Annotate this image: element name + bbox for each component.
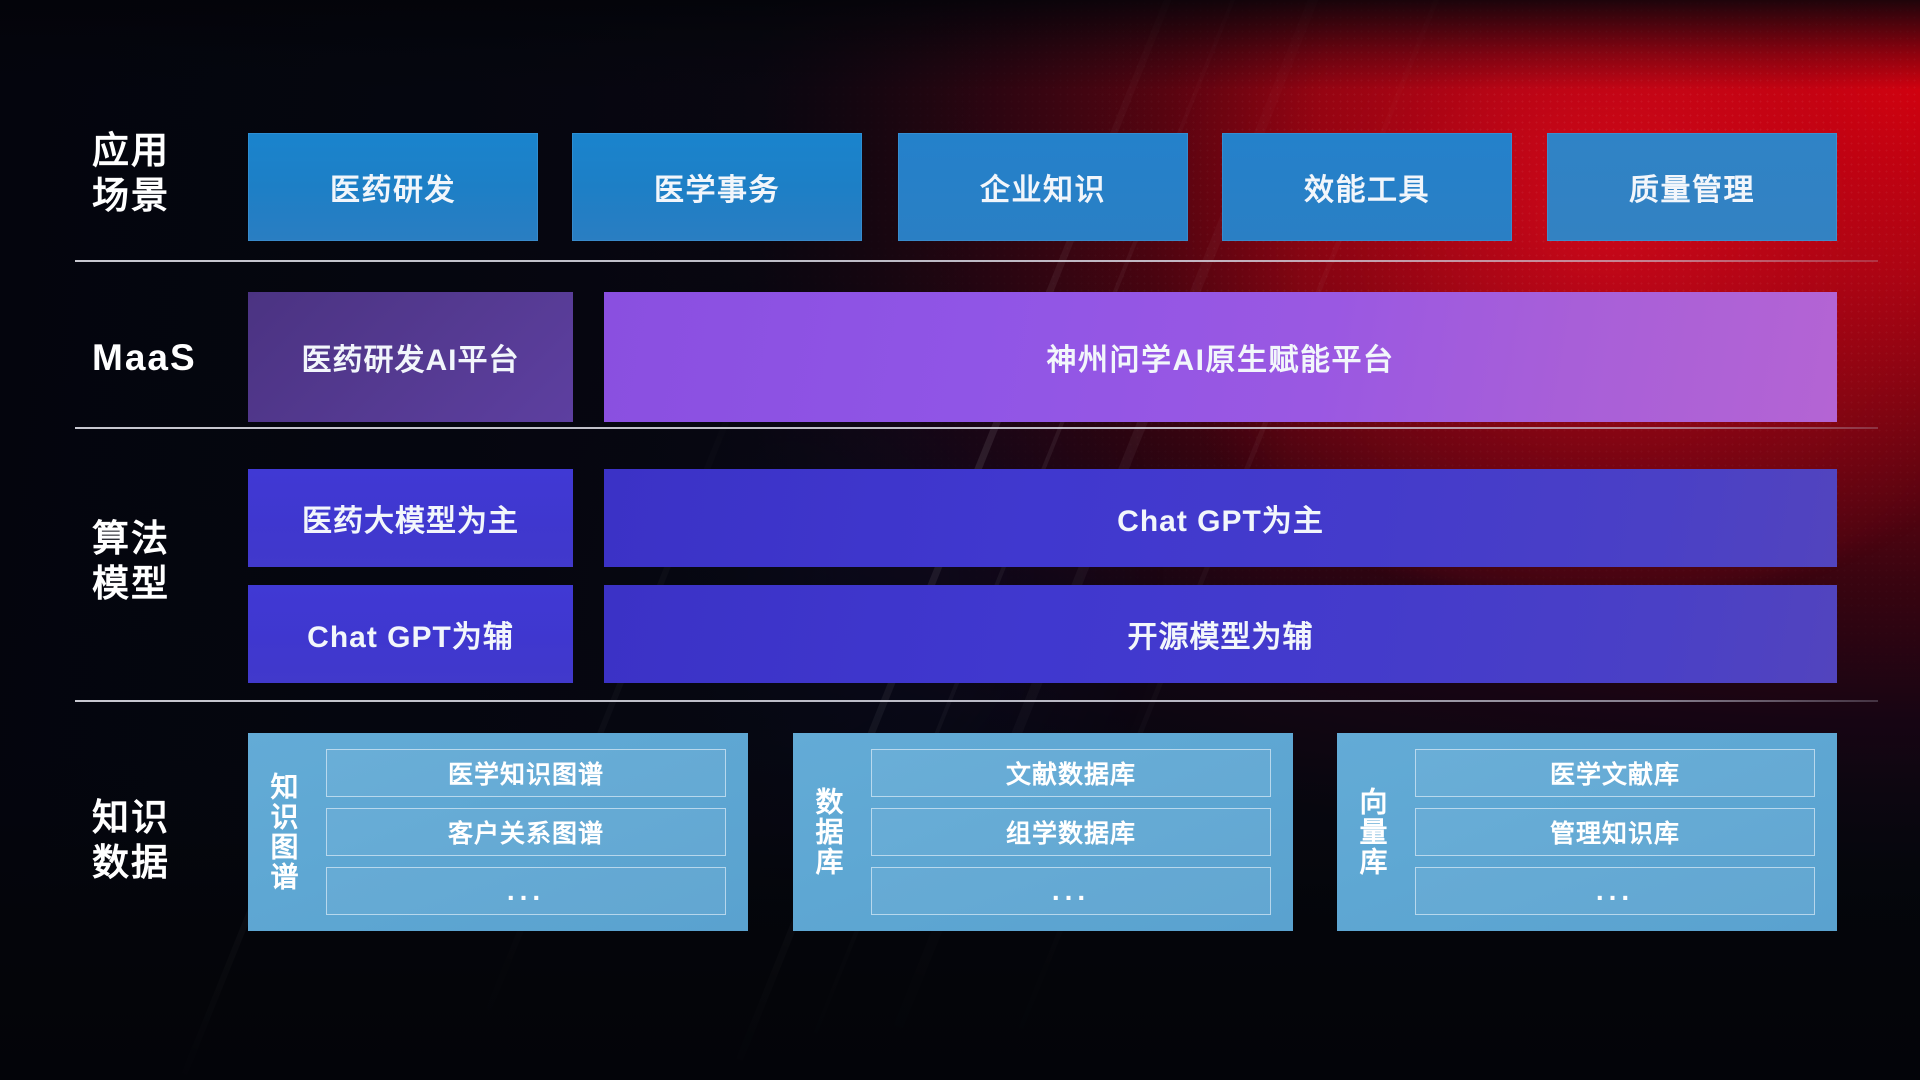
- row-label-maas: MaaS: [92, 335, 242, 380]
- maas-box-drug-ai-platform[interactable]: 医药研发AI平台: [248, 292, 573, 422]
- knowledge-group-title: 数据库: [793, 733, 863, 931]
- top-fade: [0, 0, 1920, 90]
- row-label-line: 算法: [92, 516, 242, 561]
- knowledge-item[interactable]: 医学知识图谱: [326, 749, 726, 797]
- knowledge-item-more[interactable]: ...: [326, 867, 726, 915]
- algorithm-box-drug-model-primary[interactable]: 医药大模型为主: [248, 469, 573, 567]
- knowledge-group-items: 医学文献库 管理知识库 ...: [1407, 733, 1837, 931]
- row-label-line: 应用: [92, 128, 242, 173]
- row-label-knowledge: 知识 数据: [92, 795, 242, 885]
- knowledge-item[interactable]: 客户关系图谱: [326, 808, 726, 856]
- divider-maas-algorithm: [75, 427, 1878, 429]
- knowledge-item[interactable]: 组学数据库: [871, 808, 1271, 856]
- algorithm-box-opensource-secondary[interactable]: 开源模型为辅: [604, 585, 1837, 683]
- knowledge-group-title: 知识图谱: [248, 733, 318, 931]
- app-box-drug-rd[interactable]: 医药研发: [248, 133, 538, 241]
- maas-box-shenzhou-platform[interactable]: 神州问学AI原生赋能平台: [604, 292, 1837, 422]
- app-box-efficiency-tools[interactable]: 效能工具: [1222, 133, 1512, 241]
- app-box-quality-management[interactable]: 质量管理: [1547, 133, 1837, 241]
- knowledge-group-database[interactable]: 数据库 文献数据库 组学数据库 ...: [793, 733, 1293, 931]
- knowledge-item[interactable]: 管理知识库: [1415, 808, 1815, 856]
- knowledge-item[interactable]: 文献数据库: [871, 749, 1271, 797]
- app-box-enterprise-knowledge[interactable]: 企业知识: [898, 133, 1188, 241]
- row-label-line: 场景: [92, 173, 242, 218]
- knowledge-item-more[interactable]: ...: [1415, 867, 1815, 915]
- divider-application-maas: [75, 260, 1878, 262]
- knowledge-group-vector[interactable]: 向量库 医学文献库 管理知识库 ...: [1337, 733, 1837, 931]
- divider-algorithm-knowledge: [75, 700, 1878, 702]
- app-box-medical-affairs[interactable]: 医学事务: [572, 133, 862, 241]
- row-label-line: MaaS: [92, 335, 242, 380]
- knowledge-item-more[interactable]: ...: [871, 867, 1271, 915]
- algorithm-box-chatgpt-secondary[interactable]: Chat GPT为辅: [248, 585, 573, 683]
- knowledge-group-items: 文献数据库 组学数据库 ...: [863, 733, 1293, 931]
- knowledge-group-title: 向量库: [1337, 733, 1407, 931]
- knowledge-group-items: 医学知识图谱 客户关系图谱 ...: [318, 733, 748, 931]
- algorithm-box-chatgpt-primary[interactable]: Chat GPT为主: [604, 469, 1837, 567]
- row-label-application: 应用 场景: [92, 128, 242, 218]
- row-label-line: 数据: [92, 840, 242, 885]
- knowledge-group-graph[interactable]: 知识图谱 医学知识图谱 客户关系图谱 ...: [248, 733, 748, 931]
- row-label-line: 模型: [92, 561, 242, 606]
- row-label-algorithm: 算法 模型: [92, 516, 242, 606]
- knowledge-item[interactable]: 医学文献库: [1415, 749, 1815, 797]
- architecture-diagram: 向量库 应用 场景 医药研发 医学事务 企业知识 效能工具 质量管理 MaaS …: [0, 0, 1920, 1080]
- row-label-line: 知识: [92, 795, 242, 840]
